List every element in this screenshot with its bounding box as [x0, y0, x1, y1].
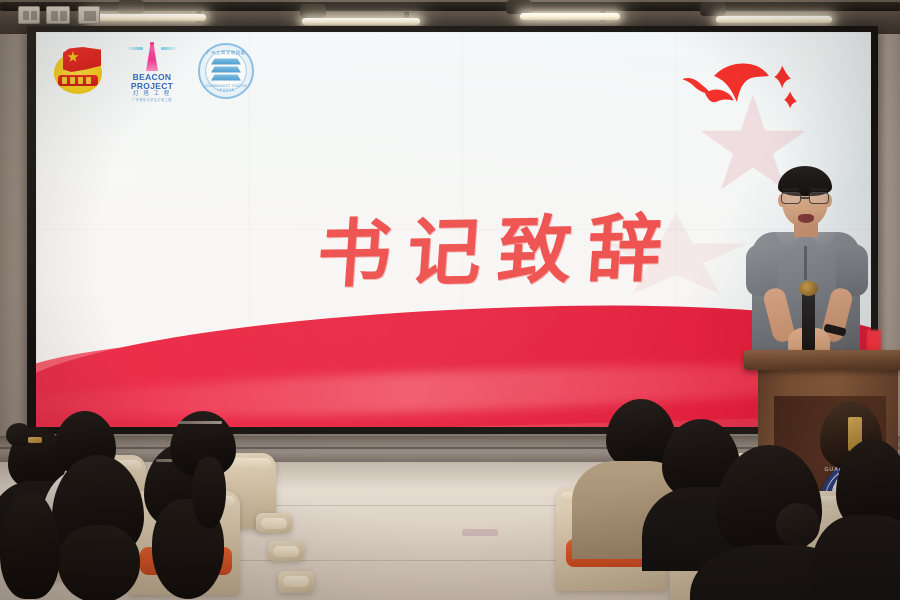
audience-hair — [192, 457, 226, 529]
books-emblem-icon — [211, 59, 241, 83]
flying-birds-icon — [673, 50, 823, 140]
cyl-emblem-icon — [52, 44, 106, 98]
ceiling-light-strip — [302, 18, 420, 25]
seal-text-bottom: COMMUNIST YOUTH LEAGUE — [200, 84, 252, 92]
bird-icon — [773, 64, 793, 90]
wall-switch-plate[interactable] — [18, 6, 40, 24]
hair-bun — [776, 503, 820, 547]
ceiling-light-strip — [520, 13, 620, 20]
speaker-mouth — [798, 214, 814, 223]
speaker-eyebrow — [810, 188, 827, 191]
slide-logo-row: BEACON PROJECT 灯 塔 工 程 广东青年大学生灯塔工程 广州工商学… — [52, 42, 254, 100]
hair-bun — [6, 423, 32, 447]
track-light-fixture — [506, 0, 532, 14]
beacon-subtitle: 广东青年大学生灯塔工程 — [124, 98, 180, 103]
ceiling-light-strip — [716, 16, 832, 23]
track-light-fixture — [118, 0, 144, 14]
audience-hair — [58, 525, 140, 600]
auditorium-photo: BEACON PROJECT 灯 塔 工 程 广东青年大学生灯塔工程 广州工商学… — [0, 0, 900, 600]
seal-text-top: 广州工商学院团委 — [200, 50, 252, 56]
speaker-shirt-placket — [804, 246, 807, 280]
seat-armrest — [256, 513, 292, 533]
podium-top-surface — [744, 350, 900, 370]
beacon-name-en: BEACON PROJECT — [124, 73, 180, 91]
ceiling-light-strip — [88, 14, 206, 21]
track-light-fixture — [700, 2, 726, 16]
seat-armrest — [278, 571, 314, 593]
hair-band — [178, 421, 222, 424]
seat-armrest — [268, 541, 304, 561]
speaker-eyebrow — [782, 188, 799, 191]
beacon-name-cn: 灯 塔 工 程 — [124, 91, 180, 98]
microphone-icon — [802, 290, 815, 352]
bird-icon — [783, 90, 799, 110]
wall-outlet[interactable] — [46, 6, 70, 24]
lighthouse-icon — [141, 42, 163, 72]
glasses-icon — [780, 192, 830, 205]
slide-title: 书记致辞 — [294, 189, 702, 303]
audience-shoulders — [812, 515, 900, 600]
college-seal-icon: 广州工商学院团委 COMMUNIST YOUTH LEAGUE — [198, 43, 254, 99]
hair-clip — [28, 437, 42, 443]
track-light-fixture — [300, 4, 326, 18]
beacon-project-logo: BEACON PROJECT 灯 塔 工 程 广东青年大学生灯塔工程 — [124, 42, 180, 100]
wall-outlet[interactable] — [78, 6, 100, 24]
audience-area — [0, 395, 900, 600]
bird-icon — [703, 86, 735, 106]
microphone-head-icon — [799, 281, 818, 296]
